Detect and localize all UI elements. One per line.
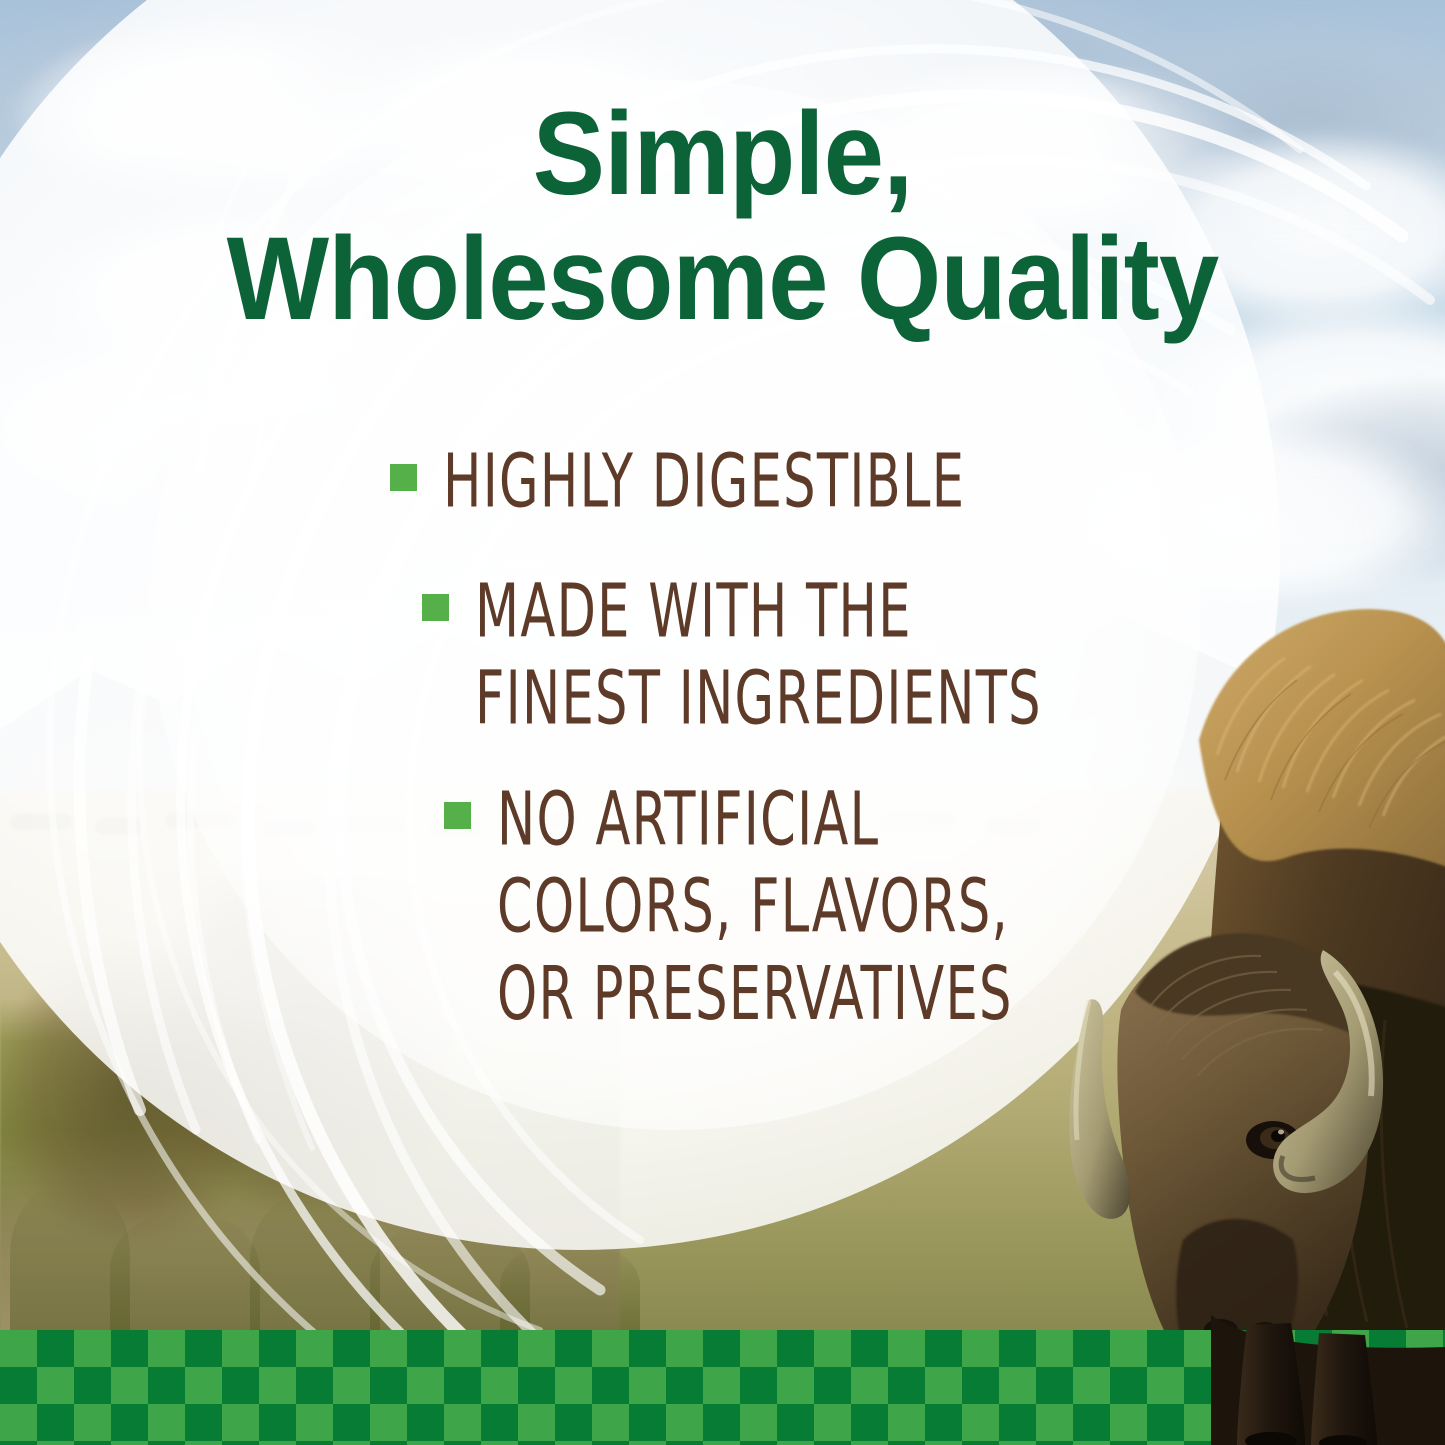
list-item: No Artificial Colors, Flavors, or Preser…: [444, 776, 1030, 1010]
green-square-bullet-icon: [390, 464, 417, 491]
marketing-poster: Simple, Wholesome Quality Highly Digesti…: [0, 0, 1445, 1445]
bullet-line: Colors, Flavors,: [497, 863, 1013, 950]
list-item: Highly Digestible: [390, 438, 1030, 516]
headline: Simple, Wholesome Quality: [58, 92, 1387, 342]
bison-photo: [985, 540, 1445, 1445]
green-square-bullet-icon: [444, 802, 471, 829]
bullet-text: No Artificial Colors, Flavors, or Preser…: [497, 776, 1013, 1038]
headline-line-1: Simple,: [58, 92, 1387, 217]
checkerboard-footer-band: [0, 1330, 1445, 1445]
headline-line-2: Wholesome Quality: [58, 217, 1387, 342]
bullet-line: or Preservatives: [497, 950, 1013, 1037]
bullet-line: Made with the: [475, 568, 1042, 655]
list-item: Made with the Finest Ingredients: [422, 568, 1030, 724]
feature-bullet-list: Highly Digestible Made with the Finest I…: [390, 438, 1030, 1009]
bullet-text: Made with the Finest Ingredients: [475, 568, 1042, 742]
bullet-line: Finest Ingredients: [475, 655, 1042, 742]
bullet-text: Highly Digestible: [443, 438, 965, 525]
green-square-bullet-icon: [422, 594, 449, 621]
bullet-line: No Artificial: [497, 776, 1013, 863]
bullet-line: Highly Digestible: [443, 438, 965, 525]
